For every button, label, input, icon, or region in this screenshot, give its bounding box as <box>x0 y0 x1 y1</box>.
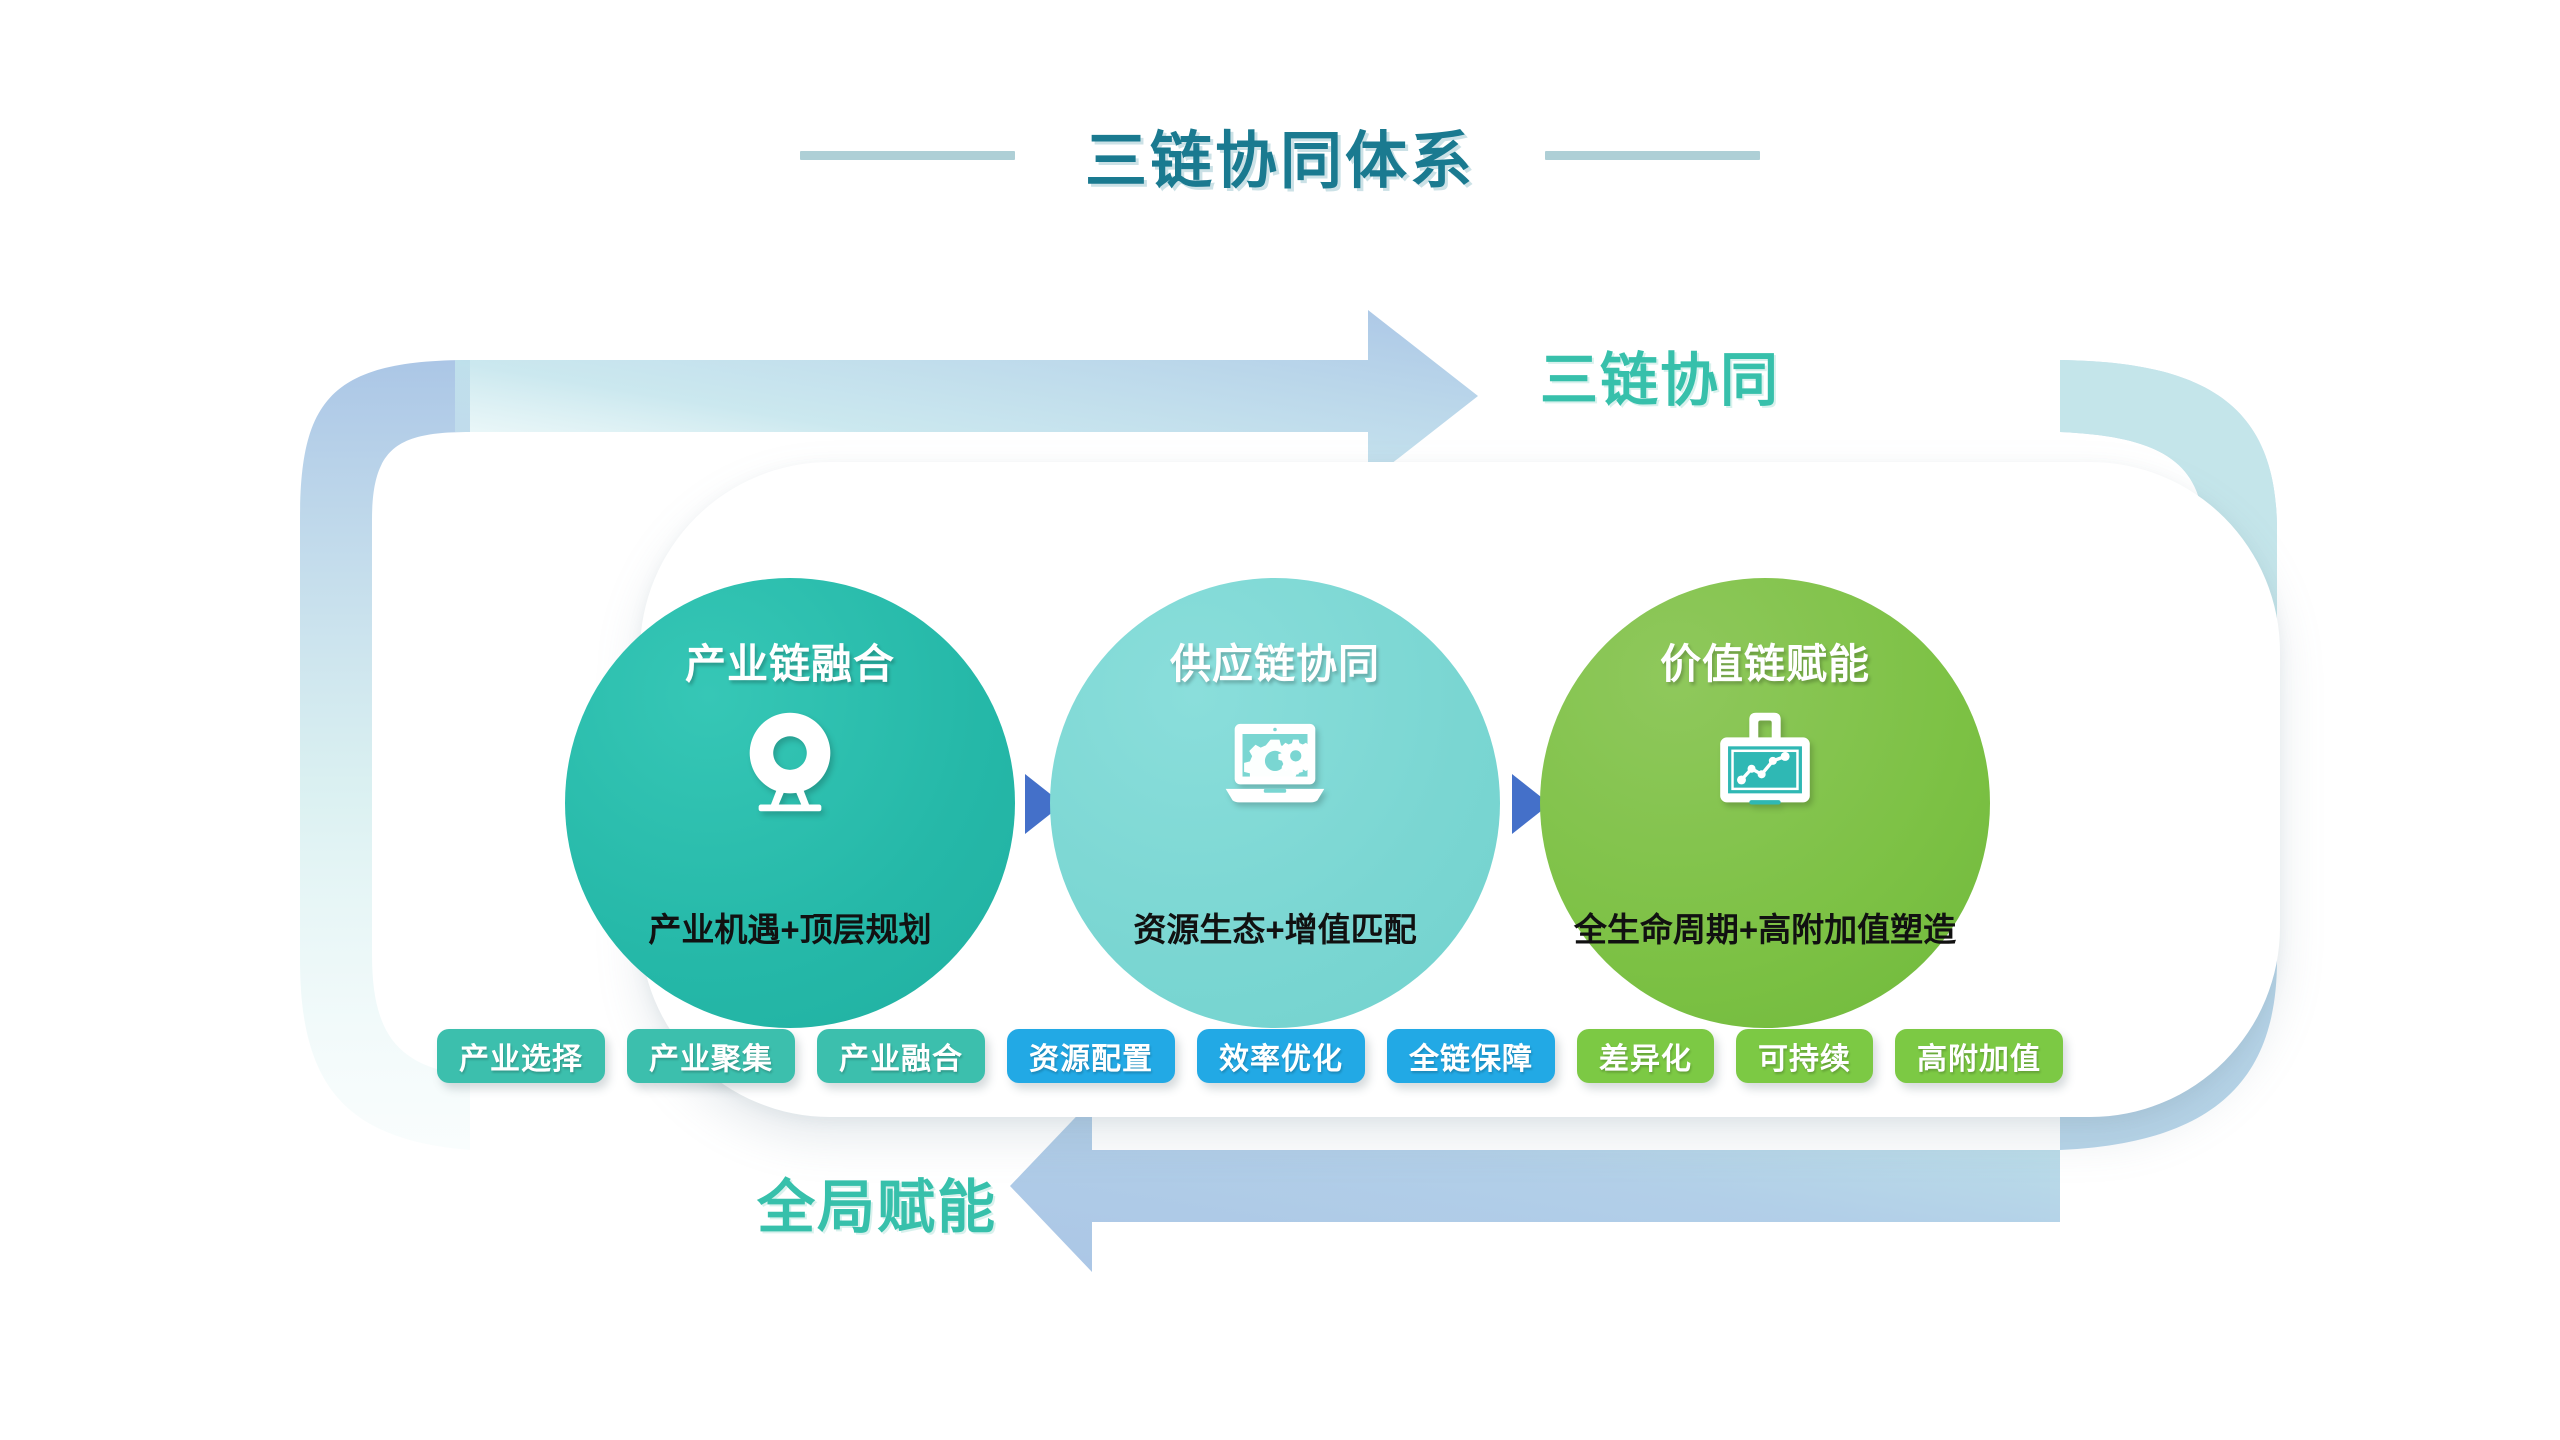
chain-node-value[interactable]: 价值链赋能 全生命周期+高附加值塑造 <box>1540 578 1990 1028</box>
tag-chip[interactable]: 资源配置 <box>1007 1029 1175 1083</box>
tag-chip[interactable]: 可持续 <box>1736 1029 1873 1083</box>
chain-node-title: 供应链协同 <box>1170 630 1380 690</box>
tag-chip[interactable]: 全链保障 <box>1387 1029 1555 1083</box>
tag-chip[interactable]: 产业融合 <box>817 1029 985 1083</box>
chain-node-supply[interactable]: 供应链协同 资源生态+增值匹配 <box>1050 578 1500 1028</box>
loop-label-top: 三链协同 <box>1540 333 1780 417</box>
laptop-gears-icon <box>1219 706 1331 818</box>
band-bottom-arrow <box>1010 1100 2060 1272</box>
loop-label-bottom: 全局赋能 <box>757 1160 997 1244</box>
tag-chip[interactable]: 产业选择 <box>437 1029 605 1083</box>
chain-node-subtitle: 资源生态+增值匹配 <box>1133 903 1416 951</box>
diagram-canvas: 三链协同体系 <box>0 0 2560 1440</box>
webcam-icon <box>734 706 846 818</box>
tag-chip[interactable]: 差异化 <box>1577 1029 1714 1083</box>
tag-chip[interactable]: 产业聚集 <box>627 1029 795 1083</box>
page-title-block: 三链协同体系 <box>0 110 2560 200</box>
chain-node-industry[interactable]: 产业链融合 产业机遇+顶层规划 <box>565 578 1015 1028</box>
tag-chip[interactable]: 效率优化 <box>1197 1029 1365 1083</box>
title-rule-right <box>1545 151 1760 160</box>
toolbox-chart-icon <box>1709 706 1821 818</box>
tag-chip[interactable]: 高附加值 <box>1895 1029 2063 1083</box>
title-rule-left <box>800 151 1015 160</box>
chain-node-subtitle: 全生命周期+高附加值塑造 <box>1574 903 1956 951</box>
chain-nodes-row: 产业链融合 产业机遇+顶层规划 供应链协同 <box>565 578 2365 1048</box>
page-title: 三链协同体系 <box>1085 110 1475 200</box>
chain-node-subtitle: 产业机遇+顶层规划 <box>648 903 931 951</box>
band-top-arrow <box>455 310 1478 482</box>
chain-node-title: 产业链融合 <box>685 630 895 690</box>
capability-tags-row: 产业选择 产业聚集 产业融合 资源配置 效率优化 全链保障 差异化 可持续 高附… <box>437 1029 2063 1083</box>
chain-node-title: 价值链赋能 <box>1660 630 1870 690</box>
